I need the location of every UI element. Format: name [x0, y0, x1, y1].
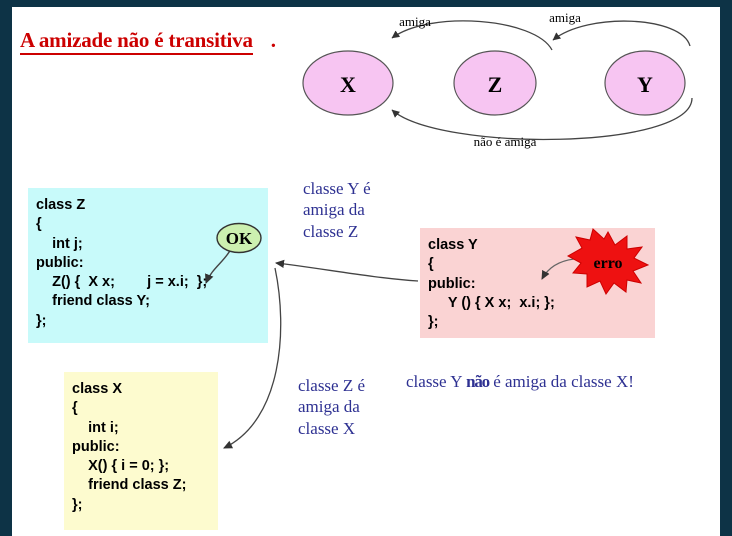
edge-label-y-to-z: amiga: [549, 10, 581, 25]
note-bottom-suffix: é amiga da classe X!: [489, 372, 634, 391]
graph-node-y-label: Y: [637, 72, 653, 97]
code-box-class-y: class Y { public: Y () { X x; x.i; }; };: [420, 228, 655, 338]
page-title-period: .: [271, 28, 276, 52]
code-box-class-x: class X { int i; public: X() { i = 0; };…: [64, 372, 218, 530]
edge-label-z-to-x: amiga: [399, 14, 431, 29]
note-z-friend-of-x: classe Z é amiga da classe X: [298, 375, 418, 439]
note-bottom-prefix: classe Y: [406, 372, 466, 391]
note-bottom-emphasis: não: [466, 372, 489, 391]
page-title: A amizade não é transitiva.: [20, 28, 276, 53]
graph-node-y: Y: [605, 51, 685, 115]
code-box-class-z: class Z { int j; public: Z() { X x; j = …: [28, 188, 268, 343]
friendship-graph: X Z Y amiga amiga não é amiga: [300, 0, 720, 160]
graph-node-x: X: [303, 51, 393, 115]
graph-node-z: Z: [454, 51, 536, 115]
graph-node-x-label: X: [340, 72, 356, 97]
graph-node-z-label: Z: [488, 72, 503, 97]
code-box-class-x-text: class X { int i; public: X() { i = 0; };…: [72, 381, 186, 513]
page-title-text: A amizade não é transitiva: [20, 28, 253, 55]
code-box-class-z-text: class Z { int j; public: Z() { X x; j = …: [36, 197, 207, 329]
slide-canvas: A amizade não é transitiva. X: [0, 0, 732, 536]
code-box-class-y-text: class Y { public: Y () { X x; x.i; }; };: [428, 237, 555, 330]
note-y-friend-of-z: classe Y é amiga da classe Z: [303, 178, 423, 242]
edge-label-y-to-x: não é amiga: [474, 134, 537, 149]
slide-frame: A amizade não é transitiva. X: [0, 0, 732, 536]
note-y-not-friend-of-x: classe Y não é amiga da classe X!: [406, 371, 634, 392]
arrow-classy-to-classz: [276, 263, 418, 281]
